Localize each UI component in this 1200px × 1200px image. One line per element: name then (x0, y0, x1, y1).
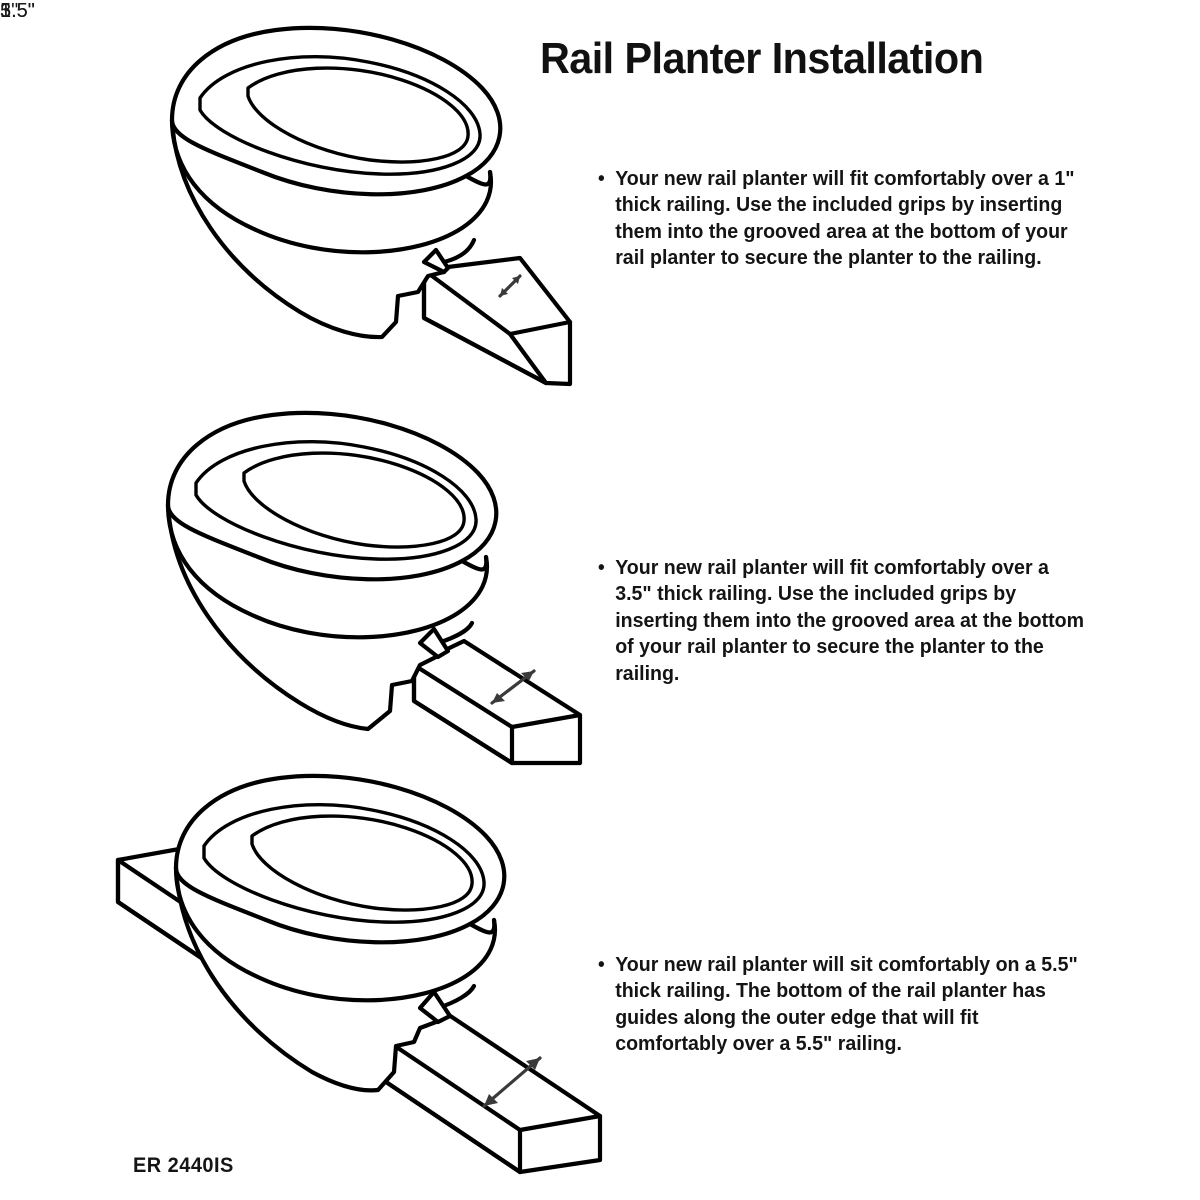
bullet-marker: • (598, 952, 605, 978)
figure-rail-planter-1in (0, 0, 620, 400)
instruction-sheet: Rail Planter Installation (0, 0, 1200, 1200)
instruction-bullet-1: • Your new rail planter will fit comfort… (598, 166, 1087, 272)
instruction-bullet-2: • Your new rail planter will fit comfort… (598, 555, 1087, 687)
bullet-marker: • (598, 555, 605, 581)
instruction-bullet-3: • Your new rail planter will sit comfort… (598, 952, 1087, 1058)
figure-rail-planter-5p5in (0, 760, 640, 1200)
page-title: Rail Planter Installation (540, 36, 1123, 82)
dimension-label-5p5in: 5.5" (0, 0, 35, 23)
part-number: ER 2440IS (133, 1154, 234, 1178)
instruction-text: Your new rail planter will sit comfortab… (615, 952, 1087, 1058)
instruction-text: Your new rail planter will fit comfortab… (615, 166, 1087, 272)
railing-board (424, 258, 570, 384)
instruction-text: Your new rail planter will fit comfortab… (615, 555, 1087, 687)
bullet-marker: • (598, 166, 605, 192)
figure-rail-planter-3p5in (0, 385, 620, 785)
